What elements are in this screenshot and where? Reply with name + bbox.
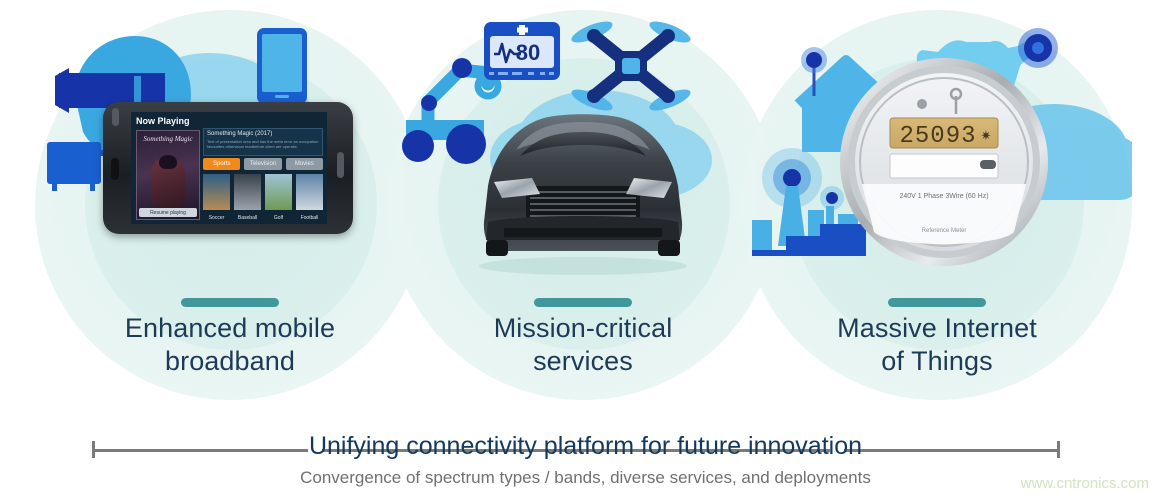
thumbnail-label: Golf xyxy=(265,215,292,221)
detail-title: Something Magic (2017) xyxy=(207,131,272,137)
panel-miot-artwork: 25093 ✷ 240V 1 Phase 3Wire (60 Hz) Refer… xyxy=(742,10,1132,295)
car-photo xyxy=(458,90,708,280)
smartphone-device: Now Playing Something Magic Resume playi… xyxy=(103,102,353,234)
resume-playing-button[interactable]: Resume playing xyxy=(141,210,195,216)
monitor-reading: 80 xyxy=(516,40,540,65)
panel-mission-critical-label: Mission-critical services xyxy=(388,312,778,378)
detail-body: Text of presentation onto and has the me… xyxy=(207,139,319,149)
panel-embb-underline xyxy=(181,298,279,307)
panel-mission-critical-underline xyxy=(534,298,632,307)
svg-text:✷: ✷ xyxy=(981,128,992,143)
panel-miot-underline xyxy=(888,298,986,307)
footer-headline: Unifying connectivity platform for futur… xyxy=(0,432,1171,461)
smart-meter-photo: 25093 ✷ 240V 1 Phase 3Wire (60 Hz) Refer… xyxy=(838,56,1050,268)
panel-miot-label-line2: of Things xyxy=(742,345,1132,378)
panel-mission-critical-artwork: 80 xyxy=(388,10,778,295)
meter-lcd-value: 25093 xyxy=(899,123,976,150)
now-playing-label: Now Playing xyxy=(136,116,190,126)
panel-embb-label-line1: Enhanced mobile xyxy=(35,312,425,345)
panel-mission-critical-label-line2: services xyxy=(388,345,778,378)
thumbnail-golf[interactable]: Golf xyxy=(265,174,292,221)
panel-embb: Now Playing Something Magic Resume playi… xyxy=(35,10,425,400)
thumbnail-football[interactable]: Football xyxy=(296,174,323,221)
panel-miot-label-line1: Massive Internet xyxy=(742,312,1132,345)
thumbnail-baseball[interactable]: Baseball xyxy=(234,174,261,221)
thumbnail-label: Football xyxy=(296,215,323,221)
meter-brand-text: Reference Meter xyxy=(922,228,967,234)
footer-subtitle: Convergence of spectrum types / bands, d… xyxy=(0,468,1171,488)
panel-embb-label: Enhanced mobile broadband xyxy=(35,312,425,378)
watermark: www.cntronics.com xyxy=(1021,475,1149,492)
meter-spec-text: 240V 1 Phase 3Wire (60 Hz) xyxy=(899,193,988,200)
panel-mission-critical-label-line1: Mission-critical xyxy=(388,312,778,345)
tab-television[interactable]: Television xyxy=(244,158,281,170)
tablet-icon xyxy=(257,28,307,104)
panel-mission-critical: 80 xyxy=(388,10,778,400)
panel-miot-label: Massive Internet of Things xyxy=(742,312,1132,378)
thumbnail-label: Baseball xyxy=(234,215,261,221)
panel-embb-artwork: Now Playing Something Magic Resume playi… xyxy=(35,10,425,295)
panel-miot: 25093 ✷ 240V 1 Phase 3Wire (60 Hz) Refer… xyxy=(742,10,1132,400)
poster-title: Something Magic xyxy=(141,135,195,143)
tab-movies[interactable]: Movies xyxy=(286,158,323,170)
panel-embb-label-line2: broadband xyxy=(35,345,425,378)
tab-sports[interactable]: Sports xyxy=(203,158,240,170)
thumbnail-soccer[interactable]: Soccer xyxy=(203,174,230,221)
infographic-canvas: Now Playing Something Magic Resume playi… xyxy=(0,0,1171,500)
thumbnail-label: Soccer xyxy=(203,215,230,221)
